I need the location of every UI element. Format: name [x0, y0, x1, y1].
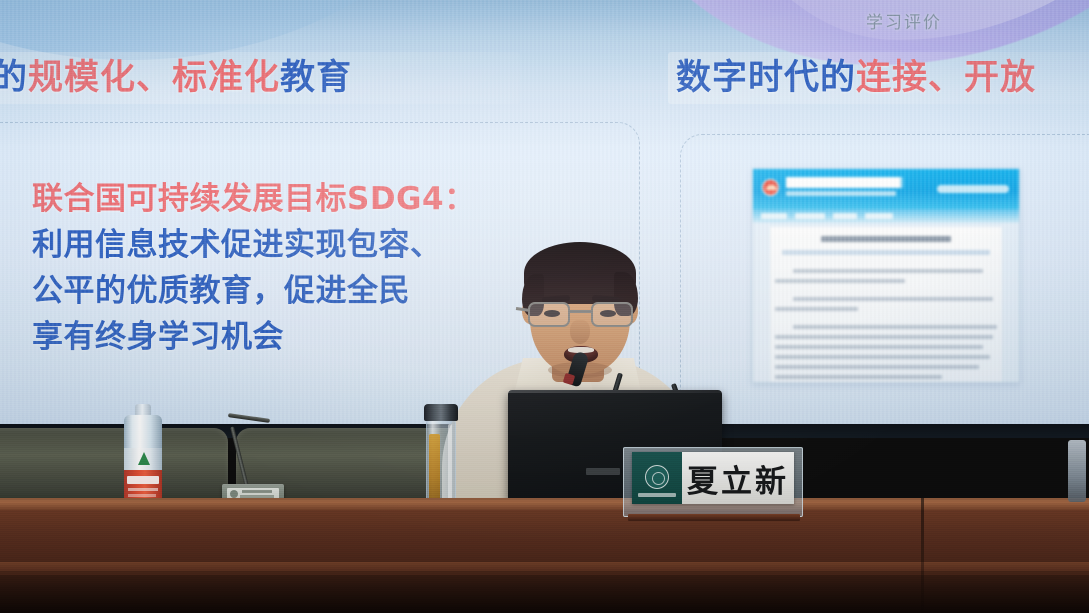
glasses-bridge [570, 310, 591, 313]
slide-body-text: 联合国可持续发展目标SDG4： 利用信息技术促进实现包容、 公平的优质教育，促进… [32, 176, 476, 360]
lens-left [528, 302, 570, 327]
desk-lower-shadow [0, 575, 1089, 613]
glass-tea-tumbler [424, 404, 458, 508]
slide-section-label: 学习评价 [866, 8, 942, 33]
moe-title-english [786, 191, 896, 196]
mountain-tree-logo-icon [138, 452, 150, 465]
nose [570, 320, 590, 344]
nameplate-stand [628, 514, 800, 521]
search-icon [937, 185, 1009, 193]
speaker-nameplate: 夏立新 [632, 452, 794, 510]
water-bottle-nongfu-spring [124, 404, 162, 508]
university-name-text [638, 493, 676, 497]
desk-trim-band [0, 562, 1089, 571]
tumbler-lid [424, 404, 458, 421]
body-line-0: 联合国可持续发展目标SDG4： [32, 176, 476, 222]
bottle-brand-text [127, 476, 159, 484]
photo-scene: 学习评价 的规模化、标准化教育 数字时代的连接、开放 联合国可持续发展目标SDG… [0, 0, 1089, 613]
base-plate-emblem-icon [230, 490, 238, 498]
bottle-brand-subtext-2 [128, 494, 156, 497]
body-line-2: 公平的优质教育，促进全民 [32, 268, 476, 314]
body-line-1: 利用信息技术促进实现包容、 [32, 222, 476, 268]
bottle-brand-subtext [128, 488, 158, 491]
moe-document-body [769, 227, 1003, 382]
decorative-blue-arc [0, 0, 480, 60]
desk-object-far-right [1068, 440, 1086, 502]
headline-left-seg-2: 教育 [280, 58, 352, 98]
tumbler-contents [429, 434, 440, 506]
headline-left-seg-1: 规模化、标准化 [28, 58, 280, 98]
university-crest-icon [645, 465, 669, 489]
moe-title-chinese [786, 177, 904, 188]
lens-right [591, 302, 633, 327]
moe-website-screenshot [752, 168, 1020, 383]
nameplate-crest-panel [632, 452, 682, 504]
headline-left-seg-0: 的 [0, 58, 28, 98]
slide-headline-left: 的规模化、标准化教育 [0, 53, 352, 103]
moe-nav-bar [753, 209, 1019, 223]
speaker-name: 夏立新 [684, 454, 792, 502]
tumbler-highlight [448, 424, 452, 504]
nameplate-card: 夏立新 [632, 452, 794, 504]
national-emblem-icon [762, 179, 779, 196]
conference-chair-back [0, 428, 228, 506]
moe-header-bar [753, 169, 1019, 209]
slide-headline-right: 数字时代的连接、开放 [676, 53, 1036, 103]
base-plate-text-line-1 [242, 490, 272, 493]
laptop-logo [586, 468, 620, 475]
body-line-3: 享有终身学习机会 [32, 314, 476, 360]
headline-right-seg-1: 连接、开放 [856, 58, 1036, 98]
headline-right-seg-0: 数字时代的 [676, 58, 856, 98]
